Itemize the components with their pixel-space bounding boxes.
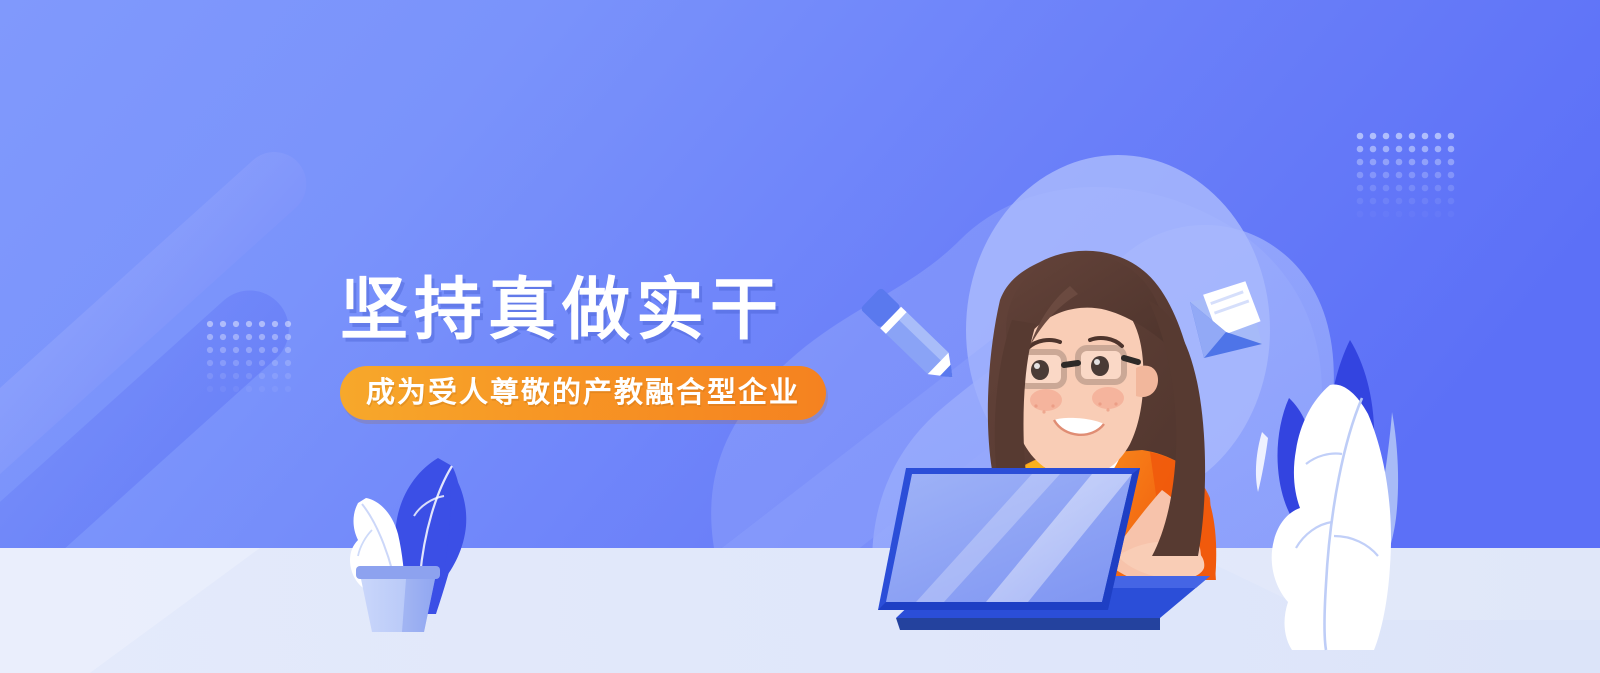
banner-subtitle: 成为受人尊敬的产教融合型企业 — [366, 375, 800, 409]
banner-subtitle-pill: 成为受人尊敬的产教融合型企业 — [340, 366, 826, 420]
banner-headline: 坚持真做实干 — [340, 272, 860, 350]
banner-subtitle-pill-wrap: 成为受人尊敬的产教融合型企业 — [340, 366, 826, 420]
hero-banner: 坚持真做实干 成为受人尊敬的产教融合型企业 — [0, 0, 1600, 673]
banner-text-block: 坚持真做实干 成为受人尊敬的产教融合型企业 — [340, 272, 860, 420]
